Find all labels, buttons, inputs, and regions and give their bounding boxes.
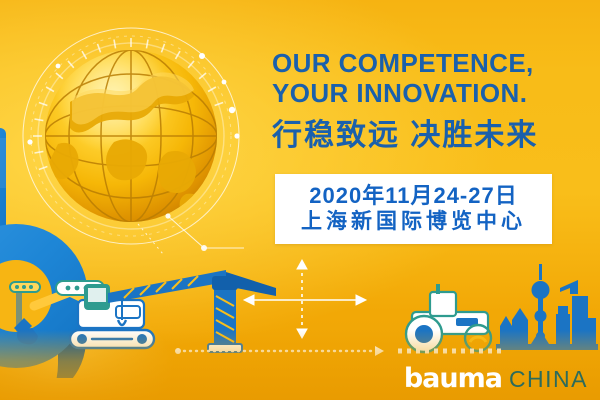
dotted-ground-line bbox=[0, 340, 600, 362]
headline-block: OUR COMPETENCE, YOUR INNOVATION. 行稳致远 决胜… bbox=[272, 48, 592, 156]
bauma-china-poster: OUR COMPETENCE, YOUR INNOVATION. 行稳致远 决胜… bbox=[0, 0, 600, 400]
shanghai-skyline-illustration bbox=[496, 264, 598, 350]
measurement-crosshair bbox=[244, 260, 366, 338]
logo-region-text: CHINA bbox=[509, 366, 588, 393]
headline-chinese-slogan: 行稳致远 决胜未来 bbox=[272, 116, 592, 156]
event-date-box: 2020年11月24-27日 上海新国际博览中心 bbox=[275, 174, 552, 244]
logo-brand-text: bauma bbox=[404, 363, 502, 394]
event-venue: 上海新国际博览中心 bbox=[301, 209, 526, 235]
event-date: 2020年11月24-27日 bbox=[309, 183, 517, 209]
golden-globe-graphic bbox=[18, 24, 248, 254]
bauma-china-logo: bauma CHINA bbox=[404, 363, 588, 394]
headline-line-1: OUR COMPETENCE, bbox=[272, 48, 592, 78]
headline-line-2: YOUR INNOVATION. bbox=[272, 78, 592, 108]
